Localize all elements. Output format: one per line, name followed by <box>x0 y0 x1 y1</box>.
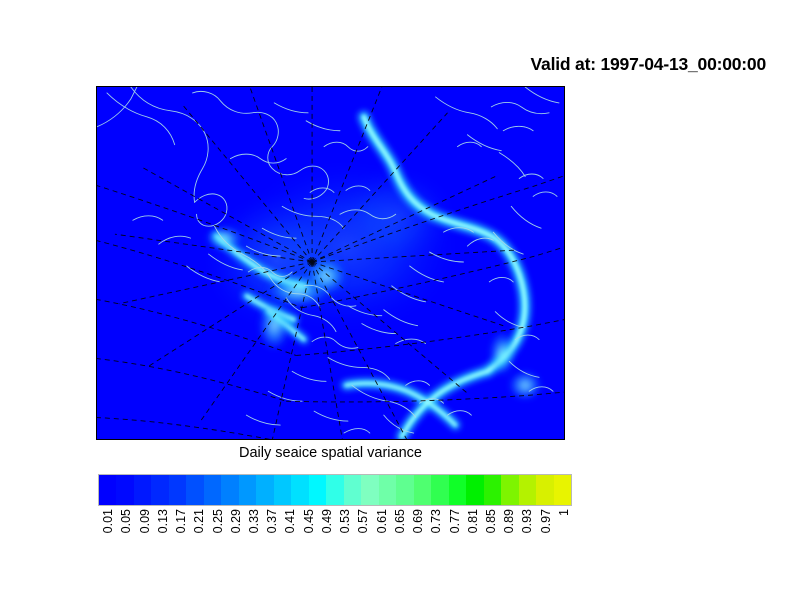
colorbar-swatch-24 <box>519 475 536 505</box>
page-title: Valid at: 1997-04-13_00:00:00 <box>531 54 766 75</box>
colorbar-tick-3: 0.13 <box>156 509 170 533</box>
colorbar-swatch-9 <box>256 475 273 505</box>
colorbar-swatch-7 <box>221 475 238 505</box>
colorbar-tick-labels: 0.010.050.090.130.170.210.250.290.330.37… <box>98 509 572 569</box>
colorbar-swatch-16 <box>379 475 396 505</box>
colorbar-swatch-5 <box>186 475 203 505</box>
colorbar-tick-15: 0.61 <box>375 509 389 533</box>
colorbar-tick-21: 0.85 <box>484 509 498 533</box>
colorbar-swatch-25 <box>536 475 553 505</box>
colorbar-tick-19: 0.77 <box>448 509 462 533</box>
colorbar-swatch-22 <box>484 475 501 505</box>
colorbar-swatch-21 <box>466 475 483 505</box>
colorbar-swatch-3 <box>151 475 168 505</box>
colorbar-tick-11: 0.45 <box>302 509 316 533</box>
colorbar-tick-7: 0.29 <box>229 509 243 533</box>
colorbar-swatch-6 <box>204 475 221 505</box>
colorbar-swatch-17 <box>396 475 413 505</box>
colorbar-swatch-23 <box>501 475 518 505</box>
colorbar-tick-9: 0.37 <box>265 509 279 533</box>
colorbar-swatch-15 <box>361 475 378 505</box>
colorbar-swatch-20 <box>449 475 466 505</box>
colorbar-tick-8: 0.33 <box>247 509 261 533</box>
colorbar-swatch-0 <box>99 475 116 505</box>
colorbar-tick-23: 0.93 <box>520 509 534 533</box>
colorbar-caption: Daily seaice spatial variance <box>96 445 565 461</box>
colorbar-tick-2: 0.09 <box>138 509 152 533</box>
colorbar-swatch-4 <box>169 475 186 505</box>
colorbar-swatch-13 <box>326 475 343 505</box>
colorbar-swatch-19 <box>431 475 448 505</box>
colorbar-swatch-8 <box>239 475 256 505</box>
colorbar-tick-17: 0.69 <box>411 509 425 533</box>
colorbar-swatch-26 <box>554 475 571 505</box>
figure-canvas: Valid at: 1997-04-13_00:00:00 <box>0 0 792 612</box>
colorbar-tick-18: 0.73 <box>429 509 443 533</box>
colorbar-tick-24: 0.97 <box>539 509 553 533</box>
colorbar-swatch-2 <box>134 475 151 505</box>
colorbar-swatch-18 <box>414 475 431 505</box>
colorbar-tick-4: 0.17 <box>174 509 188 533</box>
colorbar-swatch-14 <box>344 475 361 505</box>
map-plot-area[interactable]: 135°E 150°E 165°E 180° 15°E 0° 15°W 30°W… <box>96 86 565 440</box>
colorbar-tick-20: 0.81 <box>466 509 480 533</box>
colorbar-tick-16: 0.65 <box>393 509 407 533</box>
arctic-map <box>97 87 564 439</box>
colorbar-tick-22: 0.89 <box>502 509 516 533</box>
colorbar-tick-6: 0.25 <box>211 509 225 533</box>
colorbar-swatch-11 <box>291 475 308 505</box>
colorbar-tick-12: 0.49 <box>320 509 334 533</box>
colorbar-swatch-1 <box>116 475 133 505</box>
colorbar-tick-0: 0.01 <box>101 509 115 533</box>
colorbar-tick-10: 0.41 <box>283 509 297 533</box>
colorbar-swatch-12 <box>309 475 326 505</box>
colorbar-tick-1: 0.05 <box>119 509 133 533</box>
colorbar-tick-5: 0.21 <box>192 509 206 533</box>
colorbar[interactable] <box>98 474 572 506</box>
colorbar-tick-25: 1 <box>557 509 571 516</box>
colorbar-tick-14: 0.57 <box>356 509 370 533</box>
colorbar-tick-13: 0.53 <box>338 509 352 533</box>
colorbar-swatch-10 <box>274 475 291 505</box>
